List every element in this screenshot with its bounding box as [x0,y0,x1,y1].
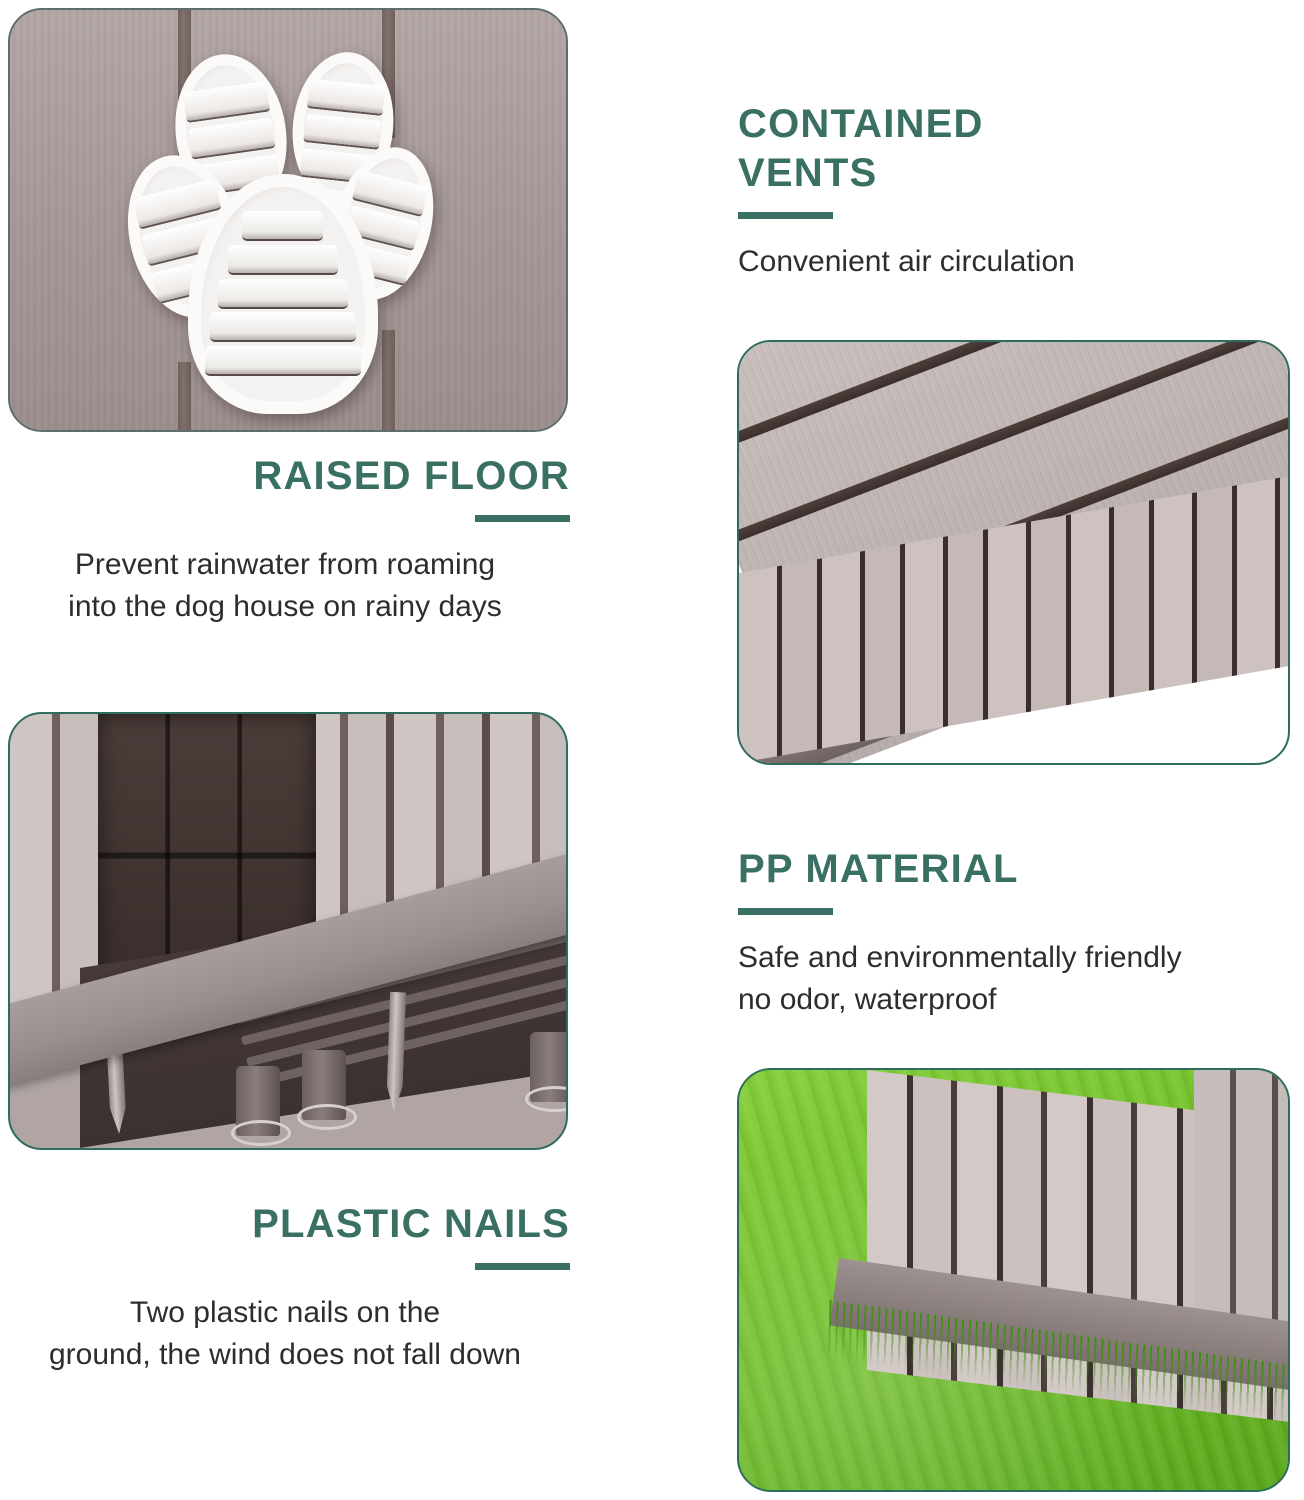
grass-illustration [739,1070,1288,1490]
raised-floor-image-card [737,340,1290,765]
plastic-nails-body: Two plastic nails on the ground, the win… [0,1292,570,1377]
heading-rule [475,1263,570,1270]
heading-rule [738,212,833,219]
heading-rule [475,515,570,522]
contained-vents-image-card [8,8,568,432]
raised-floor-text-block: RAISED FLOOR Prevent rainwater from roam… [0,452,570,629]
contained-vents-heading: CONTAINED VENTS [738,100,1278,198]
plastic-nails-illustration [10,714,566,1148]
plastic-nails-heading: PLASTIC NAILS [0,1200,570,1249]
plastic-nails-image-card [8,712,568,1150]
plastic-nails-text-block: PLASTIC NAILS Two plastic nails on the g… [0,1200,570,1377]
paw-pad-vent [188,174,378,414]
pp-material-body: Safe and environmentally friendly no odo… [738,937,1286,1022]
contained-vents-text-block: CONTAINED VENTS Convenient air circulati… [738,100,1278,283]
pp-material-heading: PP MATERIAL [738,845,1286,894]
pp-material-image-card [737,1068,1290,1492]
contained-vents-body: Convenient air circulation [738,241,1278,284]
raised-floor-body: Prevent rainwater from roaming into the … [0,544,570,629]
heading-rule [738,908,833,915]
raised-floor-heading: RAISED FLOOR [0,452,570,501]
roof-illustration [739,342,1288,763]
floor-support-leg [236,1066,280,1136]
floor-support-leg [302,1050,346,1120]
paw-vent-icon [130,34,460,424]
pp-material-text-block: PP MATERIAL Safe and environmentally fri… [738,845,1286,1022]
infographic-canvas: CONTAINED VENTS Convenient air circulati… [0,0,1304,1500]
floor-support-leg [530,1032,566,1102]
